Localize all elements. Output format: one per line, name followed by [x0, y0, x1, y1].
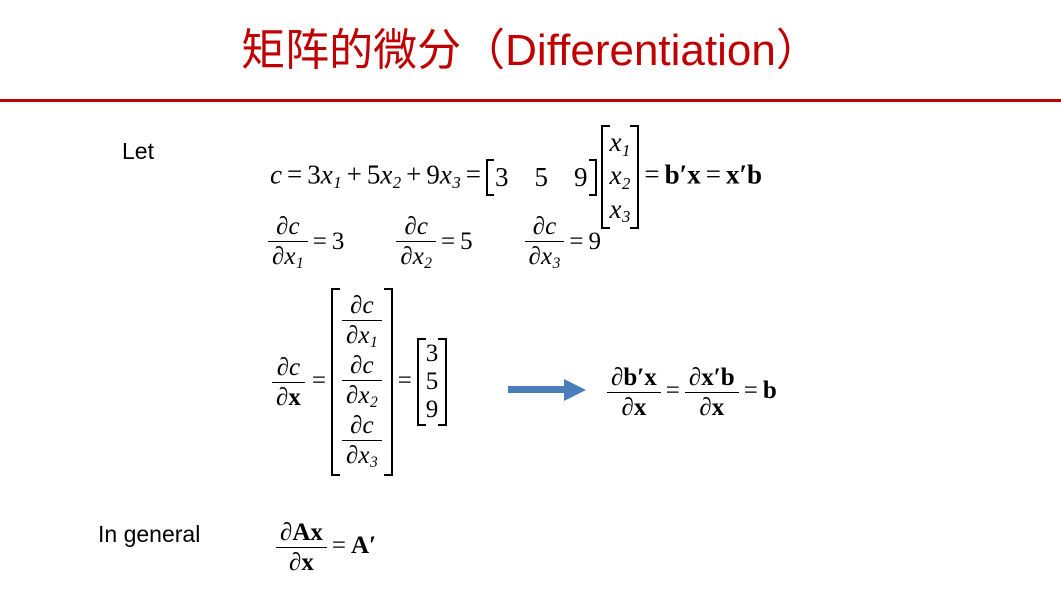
partial-2-numerator: ∂c [396, 213, 436, 242]
partial-1-equals: = [313, 228, 327, 255]
page-title-paren-open: （ [461, 25, 505, 76]
main-eq-term3-coef: 9 [426, 159, 440, 189]
identity-2-numerator: ∂x′b [685, 364, 739, 393]
identity-1-numerator: ∂b′x [607, 364, 661, 393]
row-vector-item-1: 5 [535, 162, 549, 192]
identity-equals-2: = [744, 377, 758, 404]
page-title-english: Differentiation [505, 26, 776, 75]
main-eq-prime-2: ′ [739, 159, 747, 189]
main-eq-b-1: b [747, 159, 762, 189]
identity-result: b [763, 377, 777, 404]
main-eq-plus-1: + [347, 159, 362, 189]
main-eq-term3-sub: 3 [452, 173, 460, 192]
row-vector-coefficients: 359 [486, 161, 597, 194]
title-divider [0, 99, 1061, 102]
general-equation: ∂Ax∂x=A′ [276, 519, 376, 576]
page-title-paren-close: ） [776, 25, 820, 76]
general-fraction: ∂Ax∂x [276, 519, 327, 576]
in-general-label: In general [98, 521, 200, 548]
partial-3-value: 9 [588, 228, 601, 255]
partial-3-equals: = [569, 228, 583, 255]
partial-3-numerator: ∂c [525, 213, 565, 242]
partial-3-denominator: ∂x3 [525, 242, 565, 273]
page-title-chinese: 矩阵的微分 [241, 25, 461, 76]
gradient-column-vector: ∂c∂x1∂c∂x2∂c∂x3 [331, 288, 393, 476]
partial-derivative-2: ∂c∂x2 [396, 213, 436, 273]
gradient-equals-1: = [312, 367, 326, 394]
gradient-lhs-denominator: ∂x [272, 383, 305, 411]
general-result: A [351, 532, 369, 559]
main-eq-x-1: x [687, 159, 701, 189]
column-vector-x-row-2: x3 [610, 194, 631, 227]
row-vector-item-2: 9 [574, 162, 588, 192]
partial-derivative-3: ∂c∂x3 [525, 213, 565, 273]
partial-derivatives-row: ∂c∂x1=3∂c∂x2=5∂c∂x3=9 [268, 213, 601, 273]
gradient-result-item-1: 5 [426, 368, 439, 396]
gradient-vector-row-1: ∂c∂x2 [342, 352, 382, 412]
main-eq-lhs: c [270, 159, 282, 189]
main-eq-equals-1: = [287, 159, 302, 189]
gradient-result-vector: 359 [417, 338, 448, 426]
partial-2-equals: = [441, 228, 455, 255]
main-eq-term3-var: x [440, 159, 452, 189]
column-vector-x: x1x2x3 [601, 125, 640, 229]
gradient-vector-row-2: ∂c∂x3 [342, 412, 382, 472]
partial-derivative-1: ∂c∂x1 [268, 213, 308, 273]
column-vector-x-row-0: x1 [610, 127, 631, 160]
main-eq-term1-sub: 1 [333, 173, 341, 192]
partial-1-numerator: ∂c [268, 213, 308, 242]
gradient-result-item-2: 9 [426, 396, 439, 424]
partial-2-value: 5 [460, 228, 473, 255]
identity-equals-1: = [666, 377, 680, 404]
page-title: 矩阵的微分（Differentiation） [0, 22, 1061, 80]
main-eq-equals-4: = [706, 159, 721, 189]
main-eq-term1-coef: 3 [307, 159, 321, 189]
gradient-equals-2: = [398, 367, 412, 394]
main-eq-equals-3: = [644, 159, 659, 189]
main-eq-plus-2: + [406, 159, 421, 189]
general-equals: = [332, 532, 346, 559]
partial-1-denominator: ∂x1 [268, 242, 308, 273]
partial-2-denominator: ∂x2 [396, 242, 436, 273]
gradient-lhs-fraction: ∂c∂x [272, 354, 305, 411]
gradient-vector-row-0: ∂c∂x1 [342, 292, 382, 352]
column-vector-x-row-1: x2 [610, 160, 631, 193]
main-eq-term2-sub: 2 [393, 173, 401, 192]
partial-1-value: 3 [332, 228, 345, 255]
gradient-result-item-0: 3 [426, 340, 439, 368]
implication-arrow-icon [508, 379, 588, 401]
general-numerator: ∂Ax [276, 519, 327, 548]
main-eq-equals-2: = [466, 159, 481, 189]
identity-fraction-2: ∂x′b∂x [685, 364, 739, 421]
main-eq-x-transpose: x [726, 159, 740, 189]
main-eq-b-transpose: b [665, 159, 680, 189]
gradient-lhs-numerator: ∂c [272, 354, 305, 383]
main-eq-term2-coef: 5 [367, 159, 381, 189]
identity-equation: ∂b′x∂x=∂x′b∂x=b [607, 364, 777, 421]
identity-2-denominator: ∂x [685, 393, 739, 421]
general-denominator: ∂x [276, 548, 327, 576]
identity-fraction-1: ∂b′x∂x [607, 364, 661, 421]
row-vector-item-0: 3 [495, 162, 509, 192]
main-eq-term2-var: x [380, 159, 392, 189]
arrow-head [564, 379, 586, 401]
gradient-equation: ∂c∂x=∂c∂x1∂c∂x2∂c∂x3=359 [272, 288, 447, 476]
general-result-prime: ′ [369, 532, 376, 559]
let-label: Let [122, 138, 154, 165]
arrow-shaft [508, 386, 568, 393]
identity-1-denominator: ∂x [607, 393, 661, 421]
main-eq-term1-var: x [321, 159, 333, 189]
